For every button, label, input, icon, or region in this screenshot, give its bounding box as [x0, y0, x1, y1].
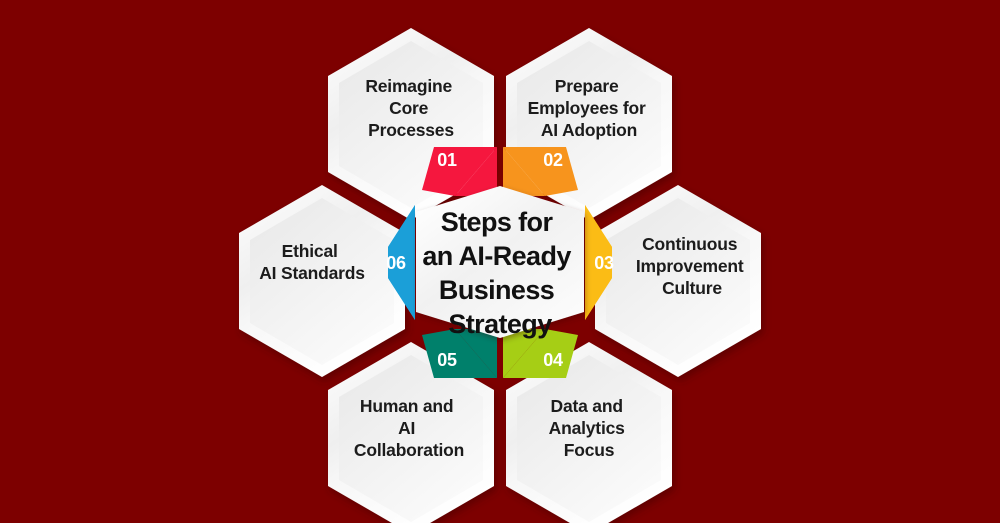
step-number-02: 02 — [543, 150, 563, 170]
step-number-05: 05 — [437, 350, 457, 370]
step-number-03: 03 — [594, 253, 614, 273]
step-hexagon-06[interactable]: Ethical AI Standards — [239, 185, 405, 377]
step-number-06: 06 — [386, 253, 406, 273]
step-wedge-02[interactable]: 02 — [503, 147, 578, 196]
center-hexagon[interactable]: Steps for an AI-Ready Business Strategy — [416, 186, 584, 339]
hexagon-infographic: Reimagine Core Processes Prepare Employe… — [0, 0, 1000, 523]
infographic-canvas: Reimagine Core Processes Prepare Employe… — [0, 0, 1000, 523]
step-wedge-01[interactable]: 01 — [422, 147, 497, 196]
step-number-04: 04 — [543, 350, 563, 370]
step-hexagon-03[interactable]: Continuous Improvement Culture — [595, 185, 761, 377]
step-number-01: 01 — [437, 150, 457, 170]
